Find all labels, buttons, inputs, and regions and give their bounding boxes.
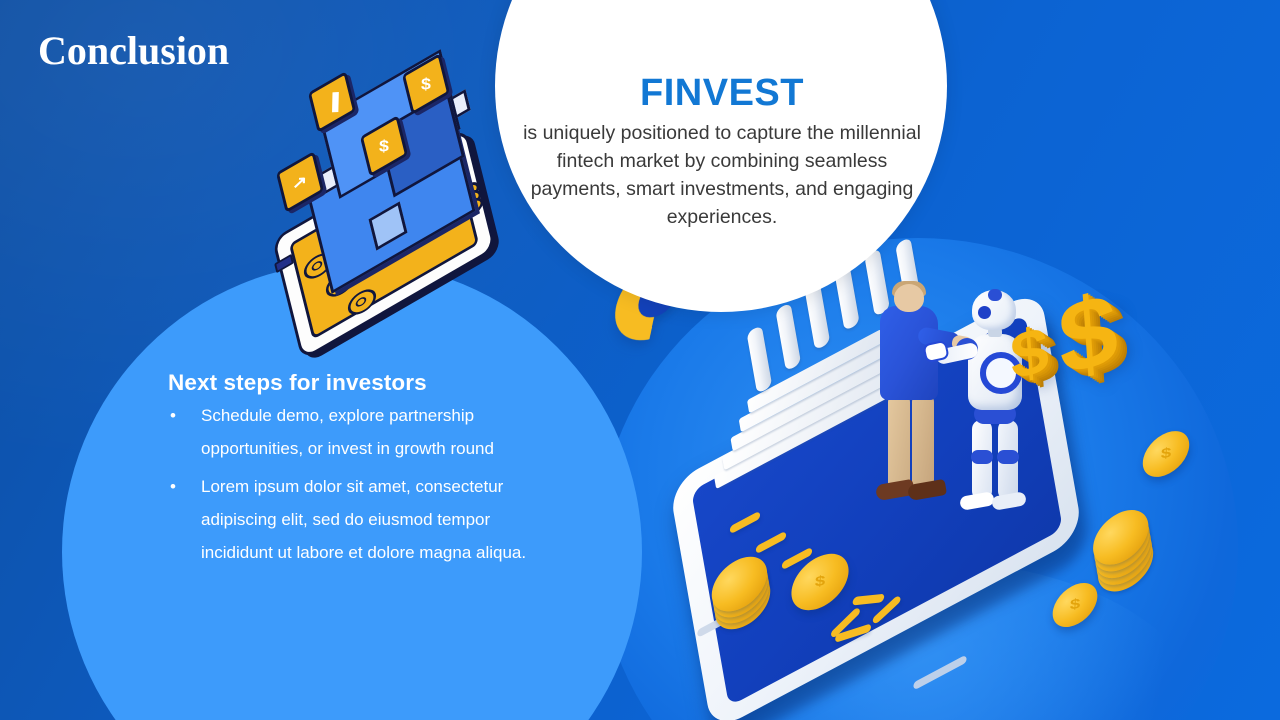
page-title: Conclusion [38, 27, 229, 74]
bullet-glyph: • [170, 400, 176, 433]
next-steps-block: Next steps for investors • Schedule demo… [168, 370, 560, 575]
gold-coin-3d [1140, 422, 1193, 485]
dollar-sign-3d-small: $ [1008, 316, 1050, 391]
badge-glyph: $ [421, 76, 431, 93]
robot-foot-left [959, 491, 995, 511]
presentation-slide: ▐ $ $ ↗ [0, 0, 1280, 720]
gold-coin-stack-3d [1089, 500, 1156, 601]
dollar-sign-3d-large: $ [1055, 276, 1120, 391]
badge-glyph: ▐ [325, 93, 338, 110]
brand-name-heading: FINVEST [520, 74, 924, 114]
callout-body-text: is uniquely positioned to capture the mi… [520, 120, 924, 232]
businessman-leg-left [888, 394, 910, 490]
callout-text-block: FINVEST is uniquely positioned to captur… [520, 74, 924, 231]
next-steps-heading: Next steps for investors [168, 370, 560, 396]
list-item: • Schedule demo, explore partnership opp… [168, 400, 560, 465]
list-item-text: Lorem ipsum dolor sit amet, consectetur … [201, 477, 526, 561]
list-item-text: Schedule demo, explore partnership oppor… [201, 406, 494, 458]
robot-head-crest [988, 289, 1002, 301]
robot-knee-right [997, 450, 1019, 464]
businessman-figure [868, 284, 958, 504]
next-steps-list: • Schedule demo, explore partnership opp… [168, 400, 560, 569]
businessman-leg-right [912, 394, 934, 490]
handshake-investor-robot-illustration: $ $ [610, 250, 1280, 720]
bullet-glyph: • [170, 471, 176, 504]
badge-glyph: $ [379, 138, 389, 155]
robot-knee-left [971, 450, 993, 464]
businessman-head [894, 284, 924, 312]
robot-foot-right [991, 491, 1027, 511]
list-item: • Lorem ipsum dolor sit amet, consectetu… [168, 471, 560, 569]
robot-eye [978, 306, 991, 319]
phone-home-indicator-3d [913, 655, 967, 691]
badge-glyph: ↗ [292, 173, 307, 190]
gold-coin-3d [1050, 575, 1101, 636]
